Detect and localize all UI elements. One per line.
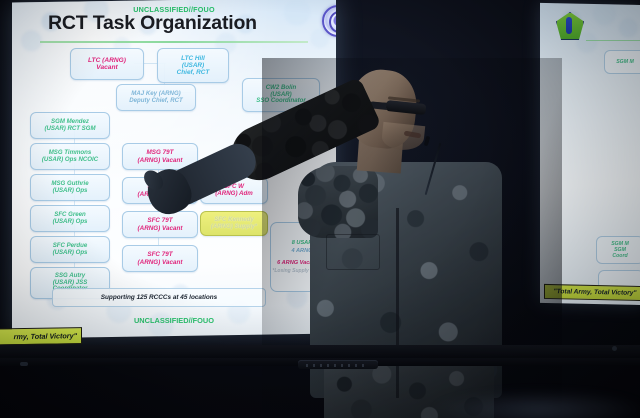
org-box-line2: Deputy Chief, RCT	[129, 98, 183, 105]
org-box-line3: Chief, RCT	[177, 69, 210, 76]
bezel-knob-right	[612, 346, 617, 351]
secondary-org-box-line1: SGM M	[616, 59, 634, 65]
org-box[interactable]: SGM Mendez (USAR) RCT SGM	[30, 112, 110, 139]
org-box-line1: SFC 79T	[147, 251, 172, 258]
secondary-org-box[interactable]: SGM M SGM Coord	[596, 236, 640, 264]
org-box-line2: (USAR)	[182, 62, 204, 69]
total-army-banner-left: rmy, Total Victory"	[0, 327, 82, 346]
support-note: Supporting 125 RCCCs at 45 locations	[52, 288, 266, 307]
bezel-vent-dots	[306, 364, 368, 367]
secondary-title-divider	[586, 40, 640, 41]
org-box[interactable]: MAJ Key (ARNG) Deputy Chief, RCT	[116, 84, 196, 111]
soldier-shoulder	[298, 166, 378, 238]
title-divider	[40, 41, 308, 43]
secondary-org-box-line3: Coord	[612, 253, 627, 259]
secondary-org-box[interactable]: SGM M	[604, 50, 640, 74]
uniform-placket	[396, 208, 399, 398]
slide-title: RCT Task Organization	[48, 12, 257, 35]
org-box-line2: (USAR) Ops NCOIC	[42, 157, 98, 164]
org-box-line2: (ARNG) Supply*	[211, 224, 257, 231]
org-box[interactable]: LTC (ARNG) Vacant	[70, 48, 144, 80]
screenshot-root: UNCLASSIFIED//FOUO RCT Task Organization…	[0, 0, 640, 418]
uniform-pocket	[326, 234, 380, 270]
org-box-line2: Vacant	[96, 64, 117, 71]
org-box[interactable]: SFC Perdue (USAR) Ops	[30, 236, 110, 263]
org-box[interactable]: MSG Guthrie (USAR) Ops	[30, 174, 110, 201]
org-box-line2: (USAR) Ops	[53, 219, 88, 226]
bezel-knob-left	[20, 362, 28, 366]
org-box-line2: (USAR) RCT SGM	[44, 126, 95, 133]
org-box-line2: (USAR) Ops	[53, 250, 88, 257]
org-box-highlighted[interactable]: SFC Kennedy (ARNG) Supply*	[200, 211, 268, 236]
org-box[interactable]: LTC Hill (USAR) Chief, RCT	[157, 48, 229, 83]
org-box[interactable]: SFC 79T (ARNG) Vacant	[122, 245, 198, 272]
org-box-line1: LTC Hill	[181, 55, 205, 62]
org-box-line2: (ARNG) Vacant	[138, 259, 183, 266]
floor-light-glow	[430, 390, 640, 418]
org-box[interactable]: MSG Timmons (USAR) Ops NCOIC	[30, 143, 110, 170]
org-box-line1: LTC (ARNG)	[88, 57, 126, 64]
org-box-line2: (USAR) Ops	[53, 188, 88, 195]
org-box[interactable]: SFC Green (USAR) Ops	[30, 205, 110, 232]
pointer-stick-tip	[424, 136, 431, 147]
